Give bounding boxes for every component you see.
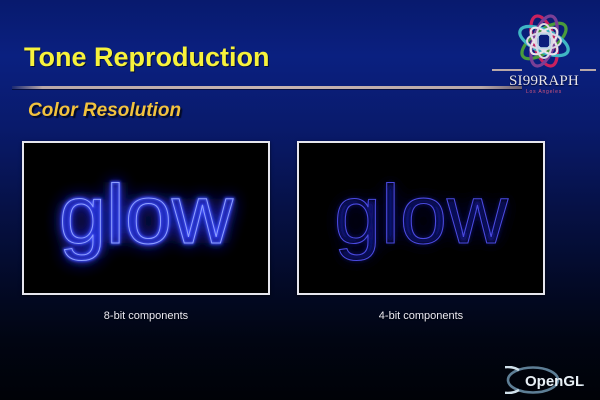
opengl-logo: OpenGL .	[505, 366, 591, 394]
siggraph-wordmark: SI99RAPH	[492, 74, 596, 89]
caption-8bit: 8-bit components	[22, 310, 270, 322]
subtitle: Color Resolution	[28, 100, 181, 122]
image-panel-8bit: glow glow glow glow	[22, 141, 270, 295]
caption-4bit: 4-bit components	[297, 310, 545, 322]
page-title: Tone Reproduction	[24, 44, 269, 71]
opengl-label: OpenGL	[525, 373, 584, 390]
opengl-trademark: .	[581, 374, 585, 389]
image-canvas-4bit: glow glow glow	[299, 143, 543, 293]
svg-text:glow: glow	[334, 167, 508, 261]
glow-image-4bit: glow glow glow	[299, 143, 543, 293]
glow-image-8bit: glow glow glow glow	[24, 143, 268, 293]
image-panel-4bit: glow glow glow	[297, 141, 545, 295]
image-canvas-8bit: glow glow glow glow	[24, 143, 268, 293]
siggraph-rings-icon	[492, 8, 596, 74]
siggraph-logo: SI99RAPH Los Angeles	[492, 8, 596, 102]
slide: Tone Reproduction Color Resolution SI99R…	[0, 0, 600, 400]
siggraph-location: Los Angeles	[492, 89, 596, 95]
title-divider	[12, 86, 522, 89]
svg-text:glow: glow	[59, 167, 233, 261]
